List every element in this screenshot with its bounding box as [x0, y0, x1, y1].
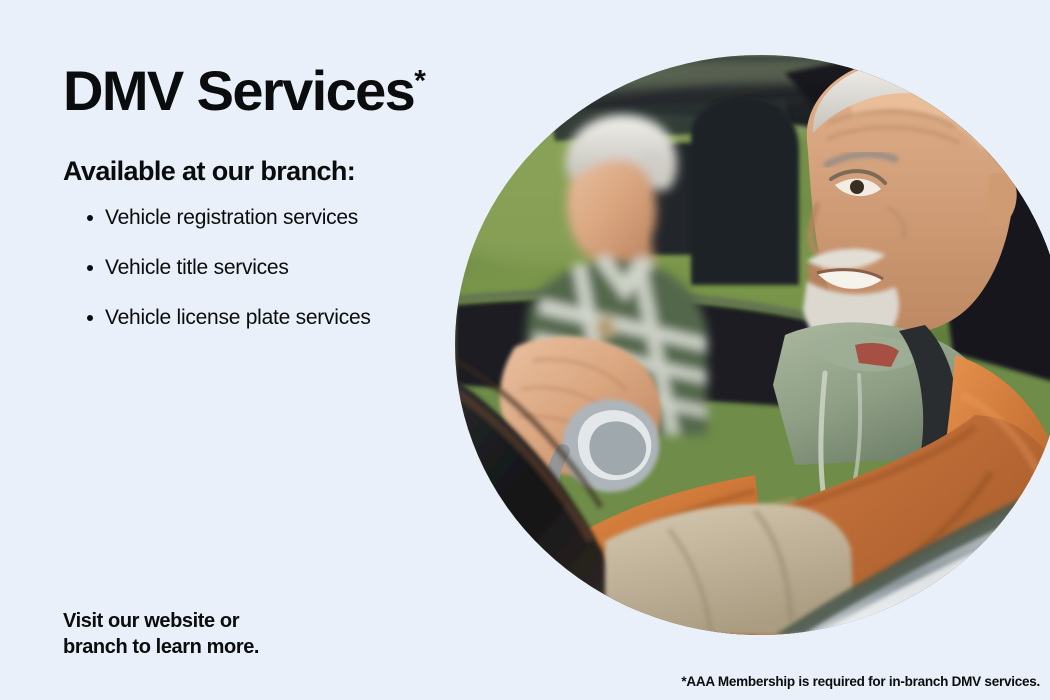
call-to-action: Visit our website or branch to learn mor… [63, 608, 259, 660]
hero-photo-illustration [455, 55, 1050, 635]
subheading: Available at our branch: [63, 156, 355, 187]
services-list: Vehicle registration services Vehicle ti… [81, 207, 371, 357]
page-title-asterisk: * [414, 64, 426, 97]
list-item: Vehicle license plate services [105, 307, 371, 328]
driver-headrest [691, 98, 799, 285]
list-item: Vehicle registration services [105, 207, 371, 228]
promo-banner: DMV Services* Available at our branch: V… [0, 0, 1050, 700]
legal-footnote: *AAA Membership is required for in-branc… [681, 674, 1040, 689]
text-column: DMV Services* Available at our branch: V… [63, 62, 463, 121]
hero-photo [455, 55, 1050, 635]
list-item: Vehicle title services [105, 257, 371, 278]
hero-photo-clip [455, 55, 1050, 635]
page-title-text: DMV Services [63, 59, 414, 122]
page-title: DMV Services* [63, 62, 463, 121]
